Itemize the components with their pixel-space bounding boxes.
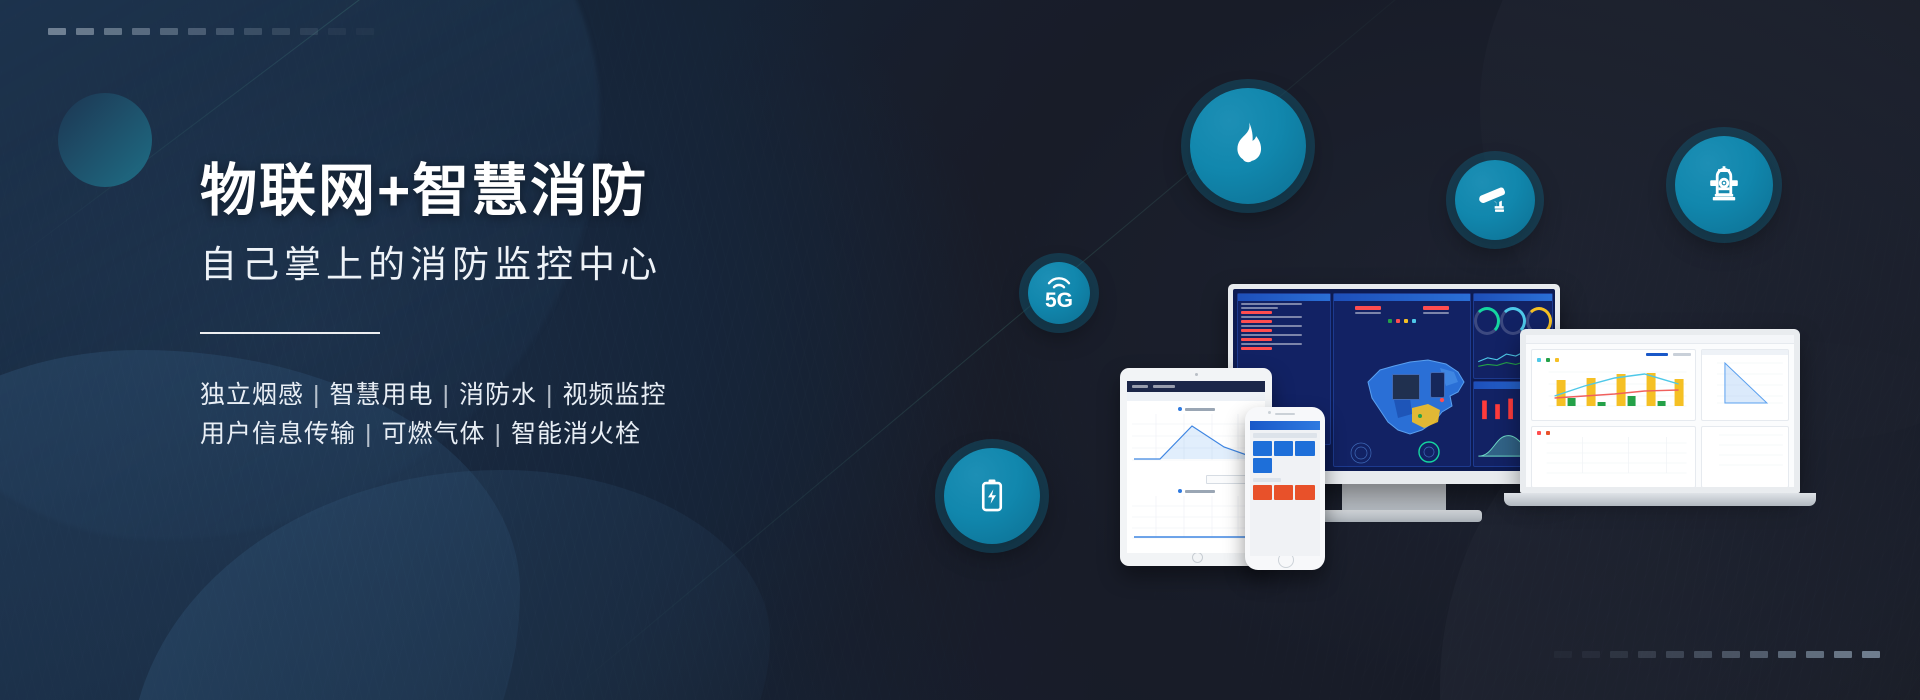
divider [200,332,380,334]
tablet-chart-card-2 [1132,489,1260,547]
camera-icon-badge [1455,160,1535,240]
phone-tile-grid-orange [1250,482,1320,503]
dash-mark [356,28,374,35]
laptop-axis-card [1701,426,1789,487]
phone-header [1250,421,1320,430]
tablet-subnav [1127,392,1265,401]
panel-text [1241,343,1302,345]
dash-mark [216,28,234,35]
dash-mark [1638,651,1656,658]
dash-mark [1862,651,1880,658]
panel-text [1241,316,1302,318]
phone-tile-grid-blue [1250,438,1320,476]
dash-marks-top-left [48,28,374,35]
feature-item: 智能消火栓 [511,420,641,448]
banner-copy: 物联网+智慧消防 自己掌上的消防监控中心 独立烟感|智慧用电|消防水|视频监控用… [200,160,900,454]
camera-icon [1475,180,1515,220]
map-kpi-row [1334,306,1470,314]
panel-title-bar [1334,294,1470,301]
dash-mark [1750,651,1768,658]
laptop-grid-chart [1532,435,1695,479]
panel-alert-text [1241,320,1272,323]
dash-mark [132,28,150,35]
phone-tile[interactable] [1253,441,1272,456]
5g-label: 5G [1045,290,1073,311]
laptop-axis-chart [1702,427,1788,475]
hydrant-icon [1700,161,1748,209]
tablet-navbar [1127,381,1265,392]
kpi-item [1423,306,1449,314]
feature-line: 用户信息传输|可燃气体|智能消火栓 [200,415,900,454]
decorative-circle [58,93,152,187]
feature-separator: | [486,420,512,448]
phone-tile-alert[interactable] [1253,485,1272,500]
panel-text [1241,307,1278,309]
phone-tile-alert[interactable] [1274,485,1293,500]
hero-banner: 物联网+智慧消防 自己掌上的消防监控中心 独立烟感|智慧用电|消防水|视频监控用… [0,0,1920,700]
battery-icon-badge [944,448,1040,544]
feature-item: 智慧用电 [330,381,434,409]
dash-mark [1806,651,1824,658]
dash-mark [104,28,122,35]
laptop-screen [1526,335,1794,487]
kpi-item [1355,306,1381,314]
laptop-tab-active[interactable] [1646,353,1668,356]
dash-mark [1554,651,1572,658]
laptop-topbar [1526,335,1794,344]
feature-item: 可燃气体 [382,420,486,448]
monitor-bottom-strip [1333,439,1469,465]
dash-mark [188,28,206,35]
map-tooltip [1392,374,1420,400]
panel-alert-text [1241,347,1272,350]
feature-separator: | [356,420,382,448]
dash-mark [48,28,66,35]
tablet-flat-chart [1132,496,1260,542]
panel-title-bar [1474,294,1552,301]
dash-mark [1582,651,1600,658]
laptop-bar-card [1531,349,1696,421]
monitor-stand [1342,484,1446,510]
laptop-tab[interactable] [1673,353,1691,356]
dash-mark [300,28,318,35]
tablet-home-button[interactable] [1192,552,1203,563]
laptop-device [1520,329,1800,493]
dash-marks-bottom-right [1554,651,1880,658]
dash-mark [272,28,290,35]
page-title: 物联网+智慧消防 [200,160,900,224]
feature-line: 独立烟感|智慧用电|消防水|视频监控 [200,376,900,415]
background-blob-bottom-left-2 [130,470,770,700]
dash-mark [328,28,346,35]
feature-item: 独立烟感 [200,381,304,409]
dash-mark [1610,651,1628,658]
feature-list: 独立烟感|智慧用电|消防水|视频监控用户信息传输|可燃气体|智能消火栓 [200,376,900,454]
feature-item: 用户信息传输 [200,420,356,448]
device-mockups [1120,285,1880,575]
panel-text [1241,325,1302,327]
phone-tile[interactable] [1274,441,1293,456]
page-subtitle: 自己掌上的消防监控中心 [200,242,900,288]
hydrant-icon-badge [1675,136,1773,234]
phone-tile[interactable] [1295,441,1314,456]
dash-mark [160,28,178,35]
panel-title-bar [1238,294,1330,301]
dash-mark [76,28,94,35]
dash-mark [1722,651,1740,658]
dash-mark [244,28,262,35]
dash-mark [1778,651,1796,658]
laptop-area-chart [1702,355,1788,411]
monitor-radar [1333,439,1469,465]
phone-tile[interactable] [1253,458,1272,473]
fire-icon-badge [1190,88,1306,204]
dash-mark [1666,651,1684,658]
monitor-base [1306,510,1482,522]
map-side-widget [1430,372,1445,398]
tablet-camera-dot [1195,373,1198,376]
panel-alert-text [1241,338,1272,341]
laptop-grid-card [1531,426,1696,487]
gauge-chart [1474,307,1500,335]
5g-icon-badge: 5G [1028,262,1090,324]
laptop-base [1504,493,1816,506]
fire-icon [1221,119,1275,173]
tablet-line-chart [1132,414,1260,466]
laptop-bar-chart [1532,362,1695,410]
feature-item: 消防水 [459,381,537,409]
phone-speaker [1275,413,1295,415]
laptop-lid [1520,329,1800,493]
phone-screen [1250,421,1320,556]
laptop-card-row-1 [1526,344,1794,426]
feature-separator: | [304,381,330,409]
laptop-legend-2 [1532,427,1695,435]
phone-camera [1268,411,1271,414]
panel-text [1241,334,1302,336]
panel-alert-text [1241,311,1272,314]
feature-item: 视频监控 [563,381,667,409]
dash-mark [1834,651,1852,658]
tablet-chart-card-1 [1132,407,1260,471]
phone-tile-alert[interactable] [1295,485,1314,500]
feature-separator: | [537,381,563,409]
5g-icon: 5G [1045,275,1073,311]
tablet-button-row [1132,475,1260,484]
battery-icon [971,475,1013,517]
smartphone-device [1245,407,1325,570]
laptop-card-row-2 [1526,426,1794,487]
panel-text [1241,303,1302,305]
dash-mark [1694,651,1712,658]
panel-alert-text [1241,329,1272,332]
map-legend [1334,319,1470,323]
feature-separator: | [434,381,460,409]
laptop-area-card [1701,349,1789,421]
